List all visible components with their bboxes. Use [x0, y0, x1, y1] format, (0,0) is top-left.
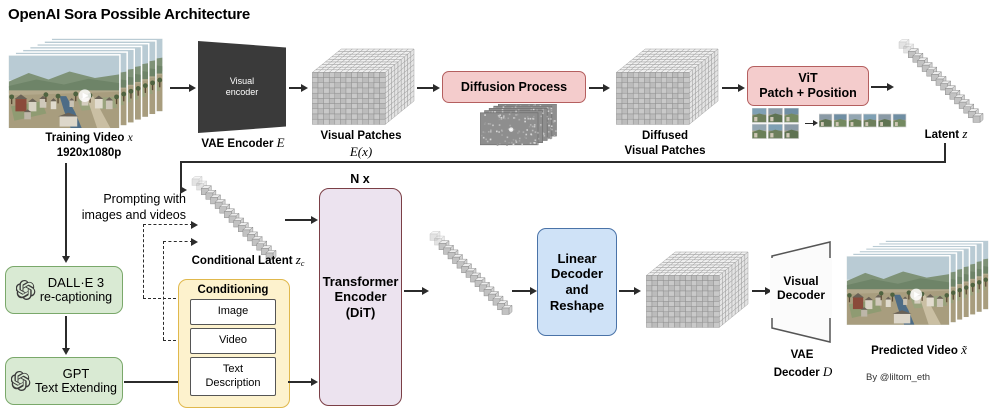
vit-label-line2: Patch + Position: [759, 86, 857, 101]
arrow-head-down: [62, 256, 70, 263]
vae-decoder-label-line1: VAE: [762, 348, 842, 362]
linear-decoder-label-line4: Reshape: [550, 298, 604, 314]
arrow-head: [189, 84, 196, 92]
prompting-label-line1: Prompting with: [56, 192, 186, 208]
visual-patches-cube: [306, 43, 416, 131]
vae-encoder-inner-line2: encoder: [226, 87, 259, 98]
diffused-patches-cube: [610, 43, 720, 131]
predicted-video-symbol: x̃: [961, 342, 967, 357]
dalle3-box[interactable]: DALL·E 3 re-captioning: [5, 266, 123, 314]
latent-z-symbol: z: [962, 126, 967, 141]
vae-decoder-label-text: Decoder: [774, 367, 820, 379]
credit-text: By @liltom_eth: [866, 372, 930, 383]
conditional-latent-label-text: Conditional Latent: [192, 255, 293, 267]
vae-encoder-inner-line1: Visual: [226, 76, 259, 87]
dashed-line-video-vertical: [163, 241, 164, 340]
diffused-patches-label-line2: Visual Patches: [600, 144, 730, 158]
training-video-symbol: x: [128, 132, 133, 144]
conditioning-item-text[interactable]: Text Description: [190, 357, 276, 396]
conditioning-item-text-line1: Text: [223, 363, 243, 376]
vae-encoder-symbol: E: [277, 135, 285, 150]
transformer-label-line2: Encoder: [334, 289, 386, 305]
arrow-head: [433, 84, 440, 92]
latent-z-sequence: [893, 38, 985, 130]
dashed-line-video: [163, 241, 193, 242]
transformer-label-line3: (DiT): [346, 305, 376, 321]
conditioning-title: Conditioning: [178, 283, 288, 297]
arrow-head: [191, 238, 198, 246]
conditional-latent-subscript: c: [301, 259, 305, 268]
linear-decoder-label-line1: Linear: [557, 251, 596, 267]
linear-decoder-box[interactable]: Linear Decoder and Reshape: [537, 228, 617, 336]
feedback-line-horizontal: [180, 161, 946, 163]
arrow-line: [285, 219, 314, 221]
feedback-line-vertical: [944, 143, 946, 163]
arrow-head: [311, 216, 318, 224]
dalle-to-gpt-line: [65, 316, 67, 351]
diffusion-process-label: Diffusion Process: [461, 80, 567, 95]
training-video-label-text: Training Video: [45, 132, 124, 144]
transformer-repeat-label: N x: [316, 172, 404, 188]
conditioning-item-text-line2: Description: [205, 377, 260, 390]
conditioning-item-video[interactable]: Video: [190, 328, 276, 354]
visual-patches-formula: E(x): [296, 144, 426, 160]
image-patches-grid: [752, 108, 802, 140]
dashed-line-image: [143, 224, 193, 225]
training-video-thumbnail: [8, 38, 166, 130]
linear-decoder-label-line2: Decoder: [551, 266, 603, 282]
conditioning-item-video-label: Video: [219, 334, 247, 347]
gpt-box[interactable]: GPT Text Extending: [5, 357, 123, 405]
linear-decoder-label-line3: and: [565, 282, 588, 298]
noisy-frames-thumbnail: [480, 104, 560, 146]
output-patches-cube: [640, 246, 750, 334]
predicted-video-thumbnail: [846, 240, 992, 332]
vit-label-line1: ViT: [798, 71, 817, 86]
predicted-video-label-text: Predicted Video: [871, 345, 958, 357]
vae-encoder-label: VAE Encoder E: [188, 135, 298, 151]
training-video-resolution: 1920x1080p: [0, 146, 178, 160]
gpt-to-text-line: [124, 381, 186, 383]
dashed-line-image-vertical: [143, 224, 144, 298]
arrow-head-down: [62, 348, 70, 355]
transformer-encoder-box[interactable]: Transformer Encoder (DiT): [319, 188, 402, 406]
visual-decoder-line2: Decoder: [777, 288, 825, 302]
gpt-label-line2: Text Extending: [35, 381, 117, 396]
vae-encoder-block: Visual encoder: [198, 41, 286, 133]
video-to-dalle-line: [65, 163, 67, 258]
latent-z-label: Latent z: [898, 126, 994, 142]
diffused-patches-label-line1: Diffused: [600, 129, 730, 143]
diffusion-process-box[interactable]: Diffusion Process: [442, 71, 586, 103]
page-title: OpenAI Sora Possible Architecture: [8, 6, 250, 23]
arrow-head: [813, 120, 818, 126]
conditioning-item-image-label: Image: [218, 305, 249, 318]
arrow-head: [530, 287, 537, 295]
training-video-label: Training Video x: [0, 131, 178, 145]
transformer-label-line1: Transformer: [323, 274, 399, 290]
vit-box[interactable]: ViT Patch + Position: [747, 66, 869, 106]
visual-decoder-line1: Visual: [783, 274, 818, 288]
latent-z-label-text: Latent: [925, 129, 960, 141]
gpt-label-line1: GPT: [35, 366, 117, 382]
conditioning-item-image[interactable]: Image: [190, 299, 276, 325]
vae-decoder-label-line2: Decoder D: [758, 364, 848, 380]
predicted-video-label: Predicted Video x̃: [838, 342, 1000, 358]
vae-decoder-symbol: D: [823, 364, 832, 379]
dalle3-label-line2: re-captioning: [40, 290, 112, 305]
dalle3-label-line1: DALL·E 3: [40, 275, 112, 291]
vae-encoder-label-text: VAE Encoder: [201, 138, 273, 150]
arrow-head: [603, 84, 610, 92]
arrow-head: [311, 378, 318, 386]
conditional-latent-label: Conditional Latent zc: [163, 252, 333, 269]
openai-logo-icon: [11, 371, 31, 391]
arrow-head: [738, 84, 745, 92]
arrow-line: [170, 87, 191, 89]
prompting-label-line2: images and videos: [46, 208, 186, 224]
visual-decoder-inner-label: Visual Decoder: [770, 258, 832, 318]
arrow-head: [191, 221, 198, 229]
output-latent-sequence: [424, 230, 514, 322]
openai-logo-icon: [16, 280, 36, 300]
visual-patches-label: Visual Patches: [296, 129, 426, 143]
